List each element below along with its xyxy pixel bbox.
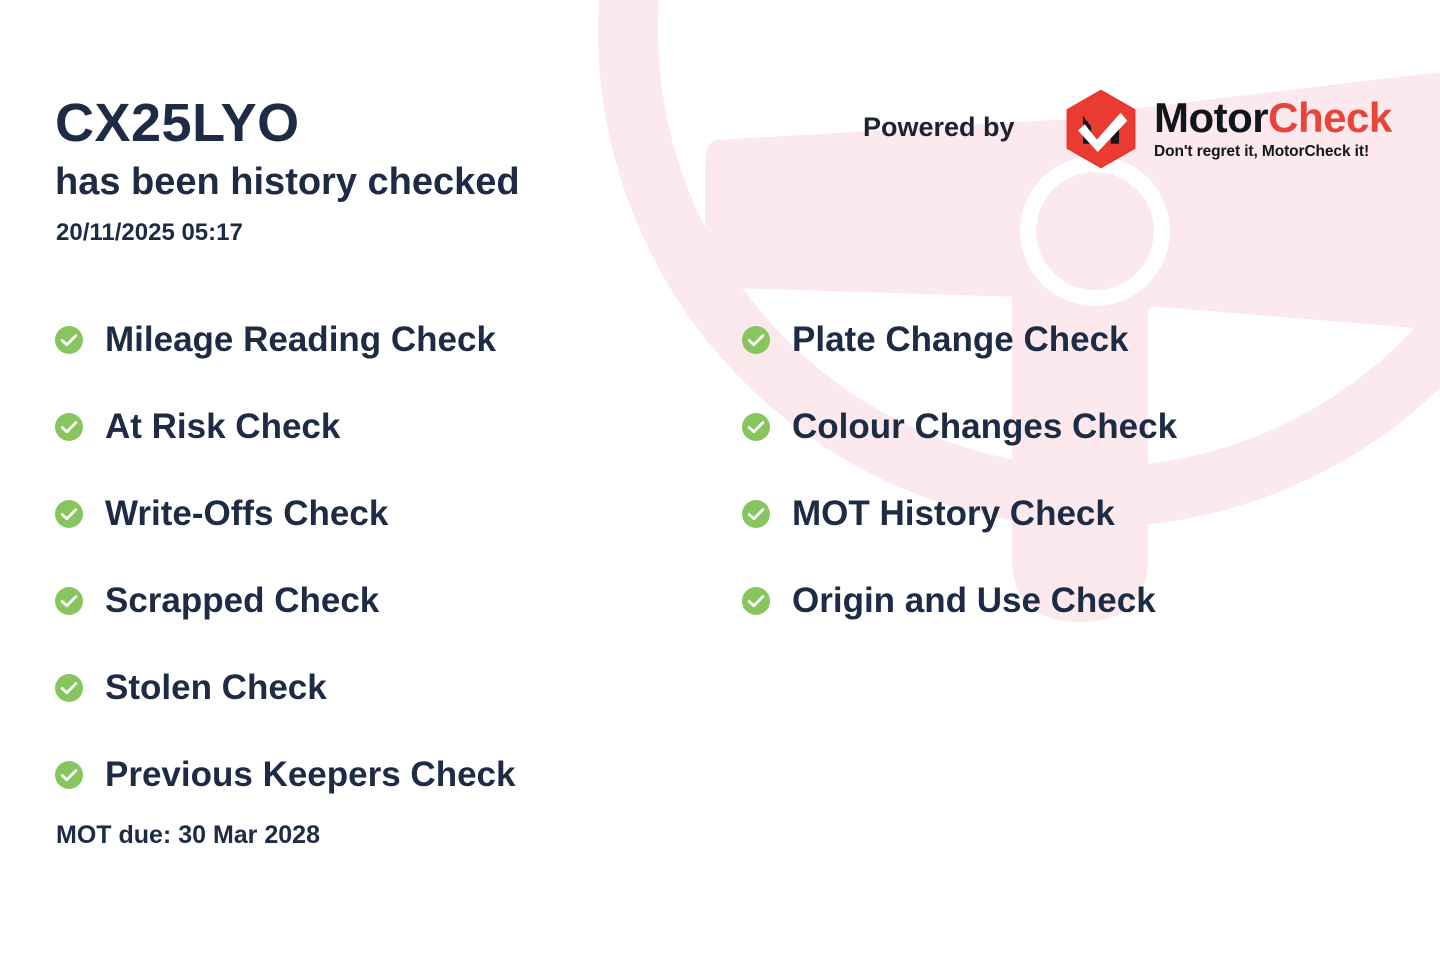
green-check-circle-icon [742,326,770,354]
checklist-column-right: Plate Change Check Colour Changes Check … [742,296,1382,644]
mot-due-date: MOT due: 30 Mar 2028 [56,821,320,850]
check-item-label: Mileage Reading Check [105,322,496,357]
check-item-at-risk: At Risk Check [55,383,695,470]
check-item-label: Previous Keepers Check [105,757,515,792]
green-check-circle-icon [55,674,83,702]
powered-by-label: Powered by [863,112,1015,143]
check-item-label: Scrapped Check [105,583,379,618]
green-check-circle-icon [55,761,83,789]
motorcheck-logo-text: MotorCheck Don't regret it, MotorCheck i… [1154,97,1392,161]
green-check-circle-icon [55,500,83,528]
check-item-label: Stolen Check [105,670,327,705]
wordmark-check: Check [1268,94,1392,141]
green-check-circle-icon [55,413,83,441]
green-check-circle-icon [55,326,83,354]
check-timestamp: 20/11/2025 05:17 [56,219,243,247]
vehicle-registration-plate: CX25LYO [55,96,300,150]
green-check-circle-icon [742,500,770,528]
check-item-label: Colour Changes Check [792,409,1177,444]
check-item-colour-changes: Colour Changes Check [742,383,1382,470]
check-item-plate-change: Plate Change Check [742,296,1382,383]
wordmark-motor: Motor [1154,94,1268,141]
check-item-label: Write-Offs Check [105,496,388,531]
motorcheck-tagline: Don't regret it, MotorCheck it! [1154,143,1392,161]
check-item-scrapped: Scrapped Check [55,557,695,644]
green-check-circle-icon [742,413,770,441]
green-check-circle-icon [55,587,83,615]
check-item-label: Origin and Use Check [792,583,1156,618]
check-item-previous-keepers: Previous Keepers Check [55,731,695,818]
check-item-mileage-reading: Mileage Reading Check [55,296,695,383]
check-item-label: MOT History Check [792,496,1115,531]
motorcheck-logo[interactable]: MotorCheck Don't regret it, MotorCheck i… [1060,88,1392,170]
check-item-origin-and-use: Origin and Use Check [742,557,1382,644]
page-title: has been history checked [55,163,520,203]
motorcheck-wordmark: MotorCheck [1154,97,1392,139]
check-item-write-offs: Write-Offs Check [55,470,695,557]
check-item-label: At Risk Check [105,409,340,444]
green-check-circle-icon [742,587,770,615]
checklist-column-left: Mileage Reading Check At Risk Check Writ… [55,296,695,818]
check-item-label: Plate Change Check [792,322,1129,357]
motorcheck-hexagon-logo-icon [1060,88,1142,170]
check-item-stolen: Stolen Check [55,644,695,731]
check-item-mot-history: MOT History Check [742,470,1382,557]
history-check-card: CX25LYO has been history checked 20/11/2… [0,0,1440,960]
